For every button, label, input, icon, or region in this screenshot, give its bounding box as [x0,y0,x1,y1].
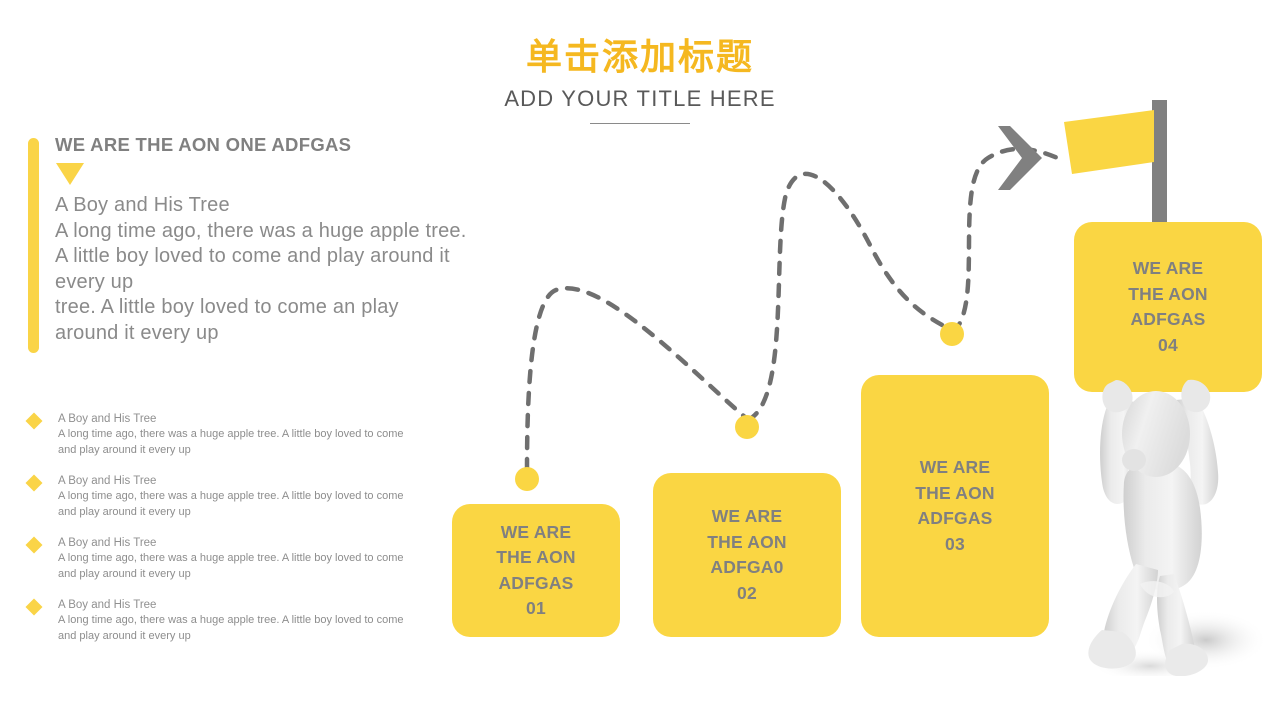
flag-icon [1064,110,1156,175]
lead-body-line: A little boy loved to come and play arou… [55,244,555,270]
list-item-title: A Boy and His Tree [58,474,418,489]
list-item-text: A long time ago, there was a huge apple … [58,551,410,582]
list-item[interactable]: A Boy and His Tree A long time ago, ther… [28,412,418,458]
lead-heading: WE ARE THE AON ONE ADFGAS [55,134,485,156]
diamond-bullet-icon [26,537,43,554]
list-item-text: A long time ago, there was a huge apple … [58,489,410,520]
chevron-right-icon [996,124,1048,192]
list-item-title: A Boy and His Tree [58,412,418,427]
step-card-03[interactable]: WE ARE THE AON ADFGAS 03 [861,375,1049,637]
lead-body-line: around it every up [55,321,555,347]
page-title-cn: 单击添加标题 [0,34,1280,80]
list-item-title: A Boy and His Tree [58,598,418,613]
step-card-01[interactable]: WE ARE THE AON ADFGAS 01 [452,504,620,637]
step-card-label: WE ARE THE AON ADFGAS 04 [1128,256,1208,358]
watermark [1246,330,1280,348]
lead-body-line: A long time ago, there was a huge apple … [55,219,555,245]
list-item-text: A long time ago, there was a huge apple … [58,427,410,458]
lead-body: A Boy and His Tree A long time ago, ther… [55,193,555,346]
step-card-04[interactable]: WE ARE THE AON ADFGAS 04 [1074,222,1262,392]
title-divider [590,123,690,124]
person-holding-sign-icon [1078,378,1268,676]
list-item[interactable]: A Boy and His Tree A long time ago, ther… [28,598,418,644]
list-item-text: A long time ago, there was a huge apple … [58,613,410,644]
bullet-list: A Boy and His Tree A long time ago, ther… [28,412,418,660]
triangle-down-icon [56,163,84,185]
dot-marker-icon [940,322,964,346]
lead-body-line: A Boy and His Tree [55,193,555,219]
list-item[interactable]: A Boy and His Tree A long time ago, ther… [28,536,418,582]
slide-canvas: 单击添加标题 ADD YOUR TITLE HERE WE ARE THE AO… [0,0,1280,720]
list-item-title: A Boy and His Tree [58,536,418,551]
diamond-bullet-icon [26,599,43,616]
dot-marker-icon [515,467,539,491]
diamond-bullet-icon [26,475,43,492]
list-item[interactable]: A Boy and His Tree A long time ago, ther… [28,474,418,520]
step-card-label: WE ARE THE AON ADFGA0 02 [707,504,787,606]
lead-body-line: every up [55,270,555,296]
diamond-bullet-icon [26,413,43,430]
lead-body-line: tree. A little boy loved to come an play [55,295,555,321]
left-accent-bar [28,138,39,353]
step-card-label: WE ARE THE AON ADFGAS 03 [915,455,995,557]
dot-marker-icon [735,415,759,439]
step-card-02[interactable]: WE ARE THE AON ADFGA0 02 [653,473,841,637]
step-card-label: WE ARE THE AON ADFGAS 01 [496,520,576,622]
